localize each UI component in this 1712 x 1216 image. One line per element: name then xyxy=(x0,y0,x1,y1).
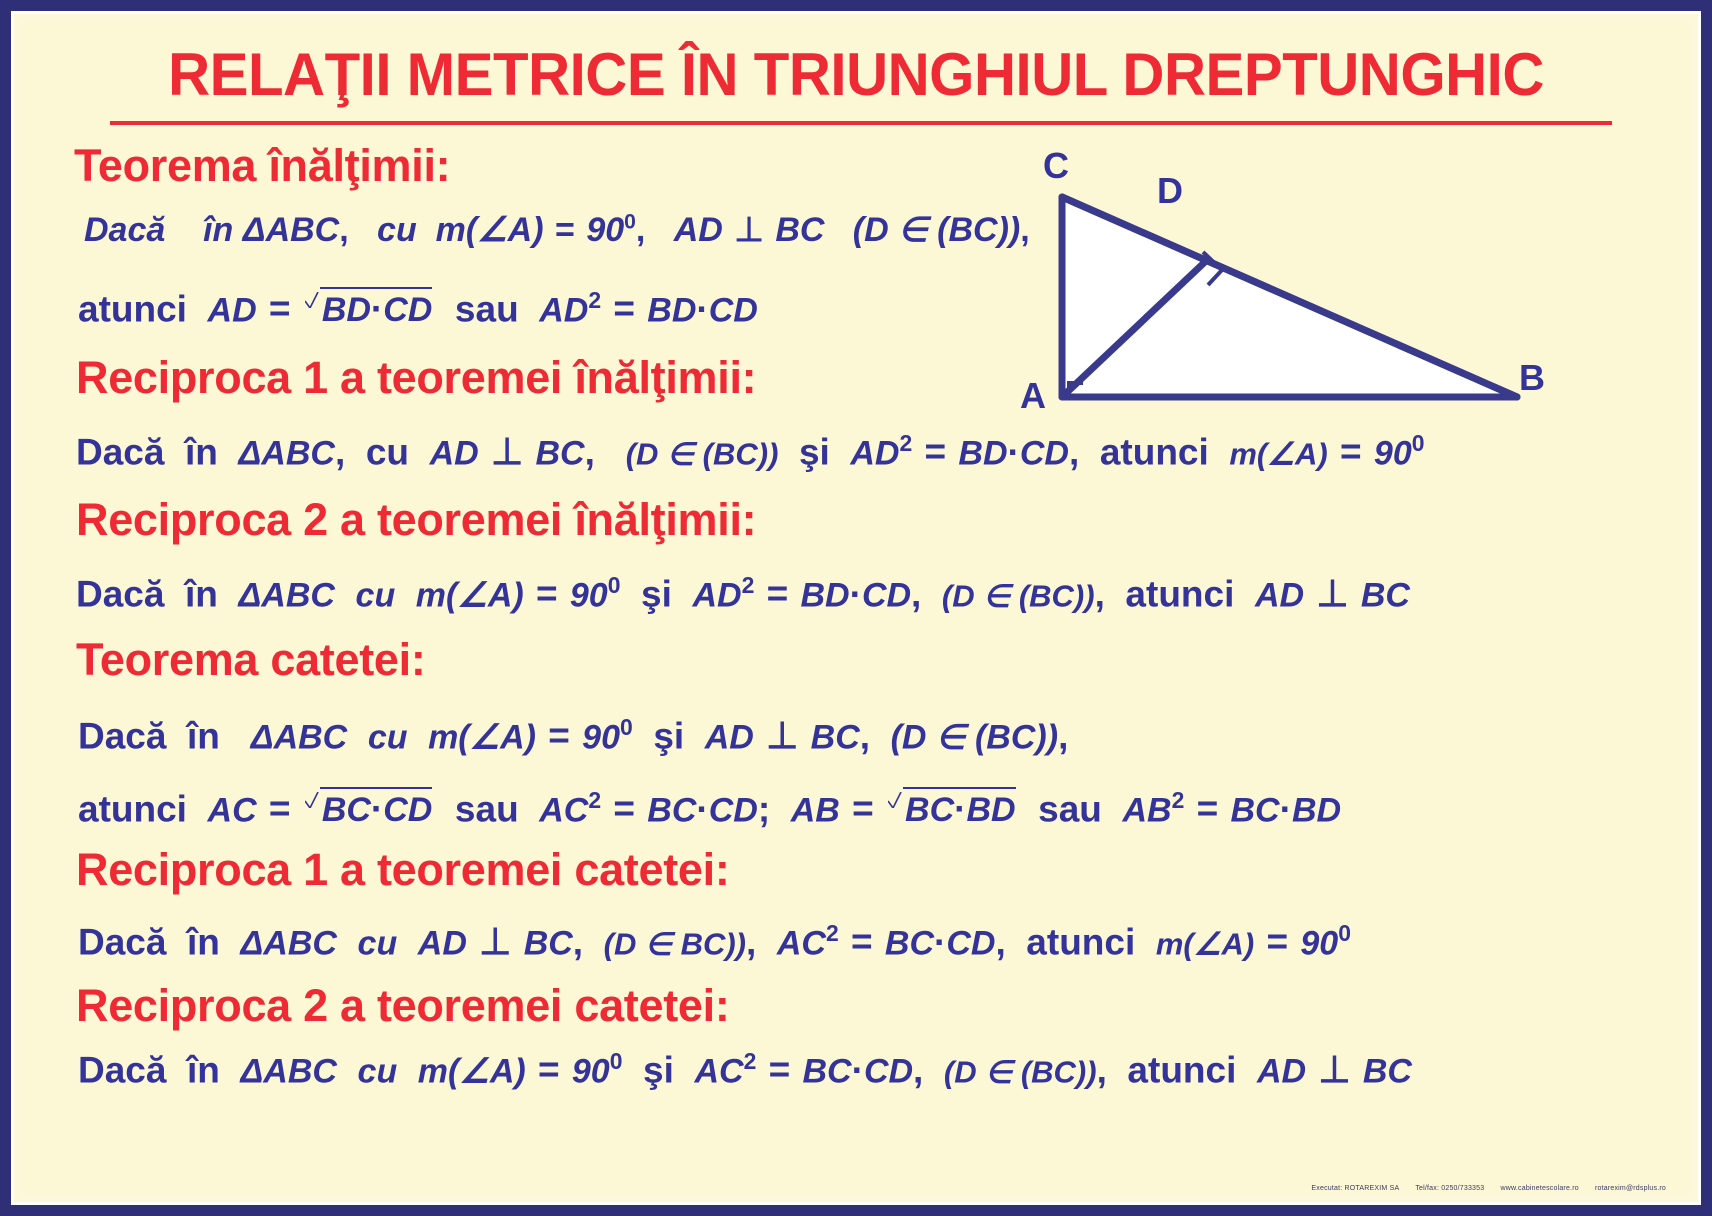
d-in-bc-5: (D ∈ BC)) xyxy=(604,926,746,961)
word-daca: Dacă xyxy=(84,211,165,249)
heading-reciproca-2-inaltimii: Reciproca 2 a teoremei înălţimii: xyxy=(76,494,756,546)
credit-email: rotarexim@rdsplus.ro xyxy=(1595,1185,1666,1192)
sq-2: 2 xyxy=(899,430,912,456)
bd-6: BD xyxy=(1292,791,1341,829)
d-in-bc-2: (D ∈ (BC)) xyxy=(626,436,779,471)
bc-9: BC xyxy=(524,924,573,962)
comma-14: , xyxy=(913,1049,923,1090)
equals-10: = xyxy=(611,788,637,829)
word-in-4: în xyxy=(187,715,220,756)
triangle-abc-5: ΔABC xyxy=(240,924,337,962)
d-in-bc-1: (D ∈ (BC)) xyxy=(853,211,1020,249)
word-atunci-4: atunci xyxy=(78,788,187,829)
word-si-1: şi xyxy=(799,431,830,472)
statement-line-7: Dacă în ΔABC cu AD ⊥ BC, (D ∈ BC)), AC2 … xyxy=(78,920,1351,963)
bd-5: BD xyxy=(966,791,1015,829)
word-atunci-6: atunci xyxy=(1127,1049,1236,1090)
perp-6: ⊥ xyxy=(1316,1049,1352,1090)
comma-13: , xyxy=(995,921,1005,962)
ac-1: AC xyxy=(208,791,257,829)
poster: RELAŢII METRICE ÎN TRIUNGHIUL DREPTUNGHI… xyxy=(0,0,1712,1216)
d-in-bc-4: (D ∈ (BC)) xyxy=(891,718,1058,756)
bd-3: BD xyxy=(958,434,1007,472)
perp-2: ⊥ xyxy=(489,431,525,472)
statement-line-8: Dacă în ΔABC cu m(∠A) = 900 şi AC2 = BC·… xyxy=(78,1048,1412,1091)
dot-4: · xyxy=(850,573,862,614)
triangle-abc-6: ΔABC xyxy=(240,1052,337,1090)
dot-8: · xyxy=(1280,788,1292,829)
poster-inner: RELAŢII METRICE ÎN TRIUNGHIUL DREPTUNGHI… xyxy=(22,22,1690,1194)
ninety-1: 90 xyxy=(586,211,624,249)
word-cu-2: cu xyxy=(366,431,409,472)
ad-3: AD xyxy=(539,291,588,329)
bd-1: BD xyxy=(322,291,371,329)
word-in-3: în xyxy=(185,573,218,614)
radical-1: BD·CD xyxy=(305,288,433,330)
comma-5: , xyxy=(585,431,595,472)
cd-7: CD xyxy=(946,924,995,962)
page-title: RELAŢII METRICE ÎN TRIUNGHIUL DREPTUNGHI… xyxy=(47,40,1665,109)
dot-5: · xyxy=(371,788,383,829)
ac-2: AC xyxy=(539,791,588,829)
d-in-bc-6: (D ∈ (BC)) xyxy=(944,1054,1097,1089)
radical-tick-icon xyxy=(305,292,320,308)
sq-6: 2 xyxy=(826,920,839,946)
ad-1: AD xyxy=(674,211,723,249)
comma-8: , xyxy=(1095,573,1105,614)
word-cu-6: cu xyxy=(358,1052,398,1090)
bc-10: BC xyxy=(885,924,934,962)
cd-2: CD xyxy=(709,291,758,329)
ad-5: AD xyxy=(850,434,899,472)
triangle-abc-2: ΔABC xyxy=(238,434,335,472)
perp-5: ⊥ xyxy=(477,921,513,962)
vertex-label-a: A xyxy=(1020,375,1046,417)
word-atunci-1: atunci xyxy=(78,288,187,329)
word-si-2: şi xyxy=(641,573,672,614)
bc-12: BC xyxy=(1363,1052,1412,1090)
equals-15: = xyxy=(536,1049,562,1090)
statement-line-2: atunci AD = BD·CD sau AD2 = BD·CD xyxy=(78,287,758,330)
d-in-bc-3: (D ∈ (BC)) xyxy=(942,578,1095,613)
word-si-4: şi xyxy=(643,1049,674,1090)
word-cu-5: cu xyxy=(358,924,398,962)
ac-4: AC xyxy=(694,1052,743,1090)
equals-13: = xyxy=(849,921,875,962)
bd-2: BD xyxy=(647,291,696,329)
credit-executed: Executat: ROTAREXIM SA xyxy=(1311,1185,1399,1192)
cd-1: CD xyxy=(383,291,432,329)
word-daca-3: Dacă xyxy=(76,573,164,614)
bc-6: BC xyxy=(647,791,696,829)
m-angle-a-6: m(∠A) xyxy=(418,1052,526,1090)
radical-3: BC·BD xyxy=(888,788,1016,830)
sq-4: 2 xyxy=(588,787,601,813)
sq-3: 2 xyxy=(742,572,755,598)
comma-2: , xyxy=(636,211,645,249)
ninety-3: 90 xyxy=(570,576,608,614)
equals-14: = xyxy=(1265,921,1291,962)
word-in-2: în xyxy=(185,431,218,472)
bc-1: BC xyxy=(775,211,824,249)
equals-7: = xyxy=(765,573,791,614)
comma-7: , xyxy=(911,573,921,614)
equals-5: = xyxy=(1338,431,1364,472)
statement-line-1: Dacă în ΔABC, cu m(∠A) = 900, AD ⊥ BC (D… xyxy=(84,210,1030,250)
semicolon-1: ; xyxy=(758,788,770,829)
word-in: în xyxy=(203,211,233,249)
deg-5: 0 xyxy=(1338,920,1351,946)
triangle-abc-4: ΔABC xyxy=(251,718,348,756)
equals-11: = xyxy=(850,788,876,829)
bc-2: BC xyxy=(535,434,584,472)
m-angle-a-3: m(∠A) xyxy=(416,576,524,614)
deg-4: 0 xyxy=(620,714,633,740)
ad-10: AD xyxy=(1257,1052,1306,1090)
ninety-2: 90 xyxy=(1374,434,1412,472)
m-angle-a-5: m(∠A) xyxy=(1156,926,1254,961)
word-daca-5: Dacă xyxy=(78,921,166,962)
bc-4: BC xyxy=(811,718,860,756)
bc-11: BC xyxy=(803,1052,852,1090)
sq-5: 2 xyxy=(1172,787,1185,813)
bd-4: BD xyxy=(801,576,850,614)
ad-8: AD xyxy=(705,718,754,756)
footer-credit: Executat: ROTAREXIM SA Tel/fax: 0250/733… xyxy=(1311,1185,1680,1192)
dot-1: · xyxy=(371,288,383,329)
word-daca-6: Dacă xyxy=(78,1049,166,1090)
ninety-5: 90 xyxy=(1300,924,1338,962)
comma-10: , xyxy=(1058,715,1068,756)
word-sau-3: sau xyxy=(1038,788,1102,829)
bc-8: BC xyxy=(1231,791,1280,829)
dot-10: · xyxy=(852,1049,864,1090)
credit-site: www.cabinetescolare.ro xyxy=(1501,1185,1579,1192)
m-angle-a-2: m(∠A) xyxy=(1229,436,1327,471)
triangle-abc: ΔABC xyxy=(243,211,340,249)
equals-12: = xyxy=(1195,788,1221,829)
statement-line-5: Dacă în ΔABC cu m(∠A) = 900 şi AD ⊥ BC, … xyxy=(78,714,1068,757)
word-atunci-2: atunci xyxy=(1100,431,1209,472)
dot-9: · xyxy=(934,921,946,962)
radical-tick-icon-3 xyxy=(888,792,903,808)
equals-3: = xyxy=(611,288,637,329)
equals-1: = xyxy=(553,211,577,249)
word-in-5: în xyxy=(187,921,220,962)
cd-4: CD xyxy=(862,576,911,614)
heading-reciproca-1-inaltimii: Reciproca 1 a teoremei înălţimii: xyxy=(76,352,756,404)
equals-16: = xyxy=(767,1049,793,1090)
statement-line-3: Dacă în ΔABC, cu AD ⊥ BC, (D ∈ (BC)) şi … xyxy=(76,430,1425,473)
deg-6: 0 xyxy=(610,1048,623,1074)
comma-9: , xyxy=(860,715,870,756)
statement-line-6: atunci AC = BC·CD sau AC2 = BC·CD; AB = … xyxy=(78,787,1341,830)
word-cu: cu xyxy=(377,211,417,249)
heading-teorema-inaltimii: Teorema înălţimii: xyxy=(74,140,450,192)
heading-reciproca-1-catetei: Reciproca 1 a teoremei catetei: xyxy=(76,844,730,896)
dot-7: · xyxy=(954,788,966,829)
cd-6: CD xyxy=(709,791,758,829)
dot-2: · xyxy=(696,288,708,329)
vertex-label-b: B xyxy=(1519,357,1545,399)
bc-5: BC xyxy=(322,791,371,829)
ab-2: AB xyxy=(1122,791,1171,829)
credit-phone: Tel/fax: 0250/733353 xyxy=(1415,1185,1484,1192)
comma-15: , xyxy=(1097,1049,1107,1090)
word-atunci-3: atunci xyxy=(1125,573,1234,614)
perp-1: ⊥ xyxy=(732,211,766,249)
triangle-svg xyxy=(1007,142,1552,422)
comma-12: , xyxy=(746,921,756,962)
statement-line-4: Dacă în ΔABC cu m(∠A) = 900 şi AD2 = BD·… xyxy=(76,572,1410,615)
comma-1: , xyxy=(339,211,348,249)
cd-3: CD xyxy=(1020,434,1069,472)
equals-2: = xyxy=(267,288,293,329)
ad-6: AD xyxy=(692,576,741,614)
equals-8: = xyxy=(546,715,572,756)
title-underline xyxy=(110,121,1612,125)
sq-1: 2 xyxy=(588,287,601,313)
bc-3: BC xyxy=(1361,576,1410,614)
equals-6: = xyxy=(534,573,560,614)
word-sau-1: sau xyxy=(455,288,519,329)
ad-4: AD xyxy=(430,434,479,472)
word-si-3: şi xyxy=(653,715,684,756)
ac-3: AC xyxy=(777,924,826,962)
deg-2: 0 xyxy=(1412,430,1425,456)
word-in-6: în xyxy=(187,1049,220,1090)
dot-3: · xyxy=(1008,431,1020,472)
deg-3: 0 xyxy=(608,572,621,598)
word-cu-4: cu xyxy=(368,718,408,756)
comma-3: , xyxy=(1020,211,1029,249)
word-daca-4: Dacă xyxy=(78,715,166,756)
cd-8: CD xyxy=(864,1052,913,1090)
comma-4: , xyxy=(335,431,345,472)
equals-4: = xyxy=(923,431,949,472)
triangle-diagram: C D A B xyxy=(1007,142,1552,422)
heading-teorema-catetei: Teorema catetei: xyxy=(76,634,426,686)
vertex-label-c: C xyxy=(1043,145,1069,187)
equals-9: = xyxy=(267,788,293,829)
perp-3: ⊥ xyxy=(1314,573,1350,614)
comma-6: , xyxy=(1069,431,1079,472)
ad-2: AD xyxy=(208,291,257,329)
perp-4: ⊥ xyxy=(764,715,800,756)
m-angle-a-4: m(∠A) xyxy=(428,718,536,756)
dot-6: · xyxy=(696,788,708,829)
radical-tick-icon-2 xyxy=(305,792,320,808)
sq-7: 2 xyxy=(744,1048,757,1074)
ad-9: AD xyxy=(418,924,467,962)
radical-2: BC·CD xyxy=(305,788,433,830)
heading-reciproca-2-catetei: Reciproca 2 a teoremei catetei: xyxy=(76,980,730,1032)
ninety-4: 90 xyxy=(582,718,620,756)
ab-1: AB xyxy=(791,791,840,829)
word-sau-2: sau xyxy=(455,788,519,829)
triangle-abc-3: ΔABC xyxy=(238,576,335,614)
cd-5: CD xyxy=(383,791,432,829)
m-angle-a-1: m(∠A) xyxy=(436,211,544,249)
vertex-label-d: D xyxy=(1157,170,1183,212)
comma-11: , xyxy=(573,921,583,962)
bc-7: BC xyxy=(905,791,954,829)
ad-7: AD xyxy=(1255,576,1304,614)
deg-1: 0 xyxy=(624,211,636,234)
ninety-6: 90 xyxy=(572,1052,610,1090)
word-daca-2: Dacă xyxy=(76,431,164,472)
word-cu-3: cu xyxy=(356,576,396,614)
word-atunci-5: atunci xyxy=(1026,921,1135,962)
